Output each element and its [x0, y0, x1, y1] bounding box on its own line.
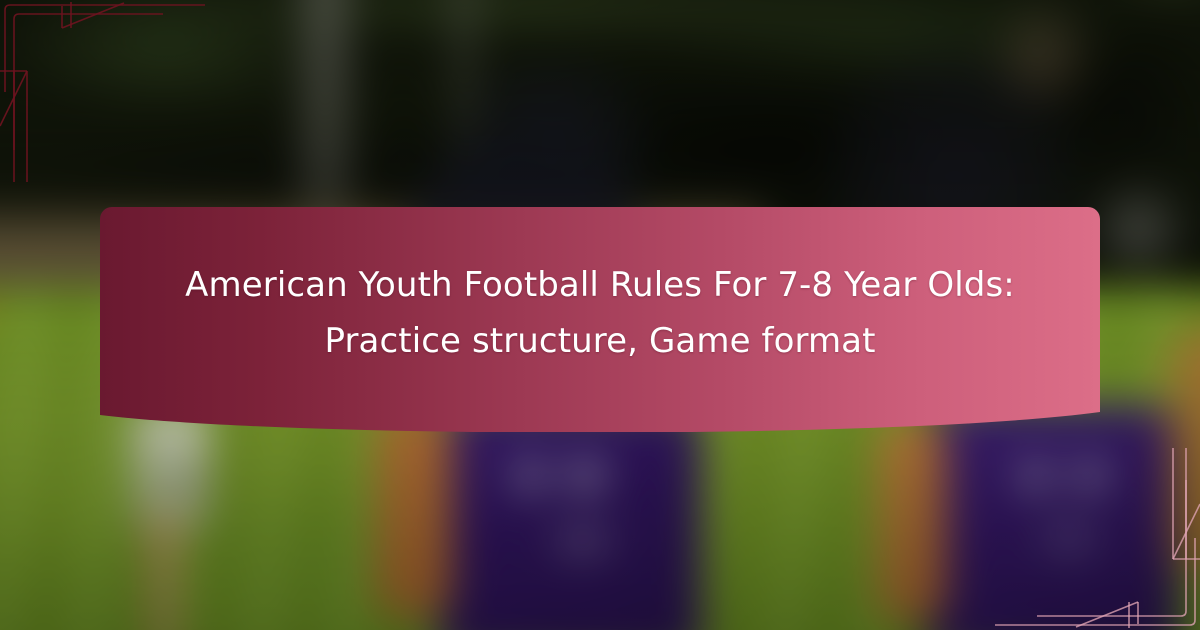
- share-card-canvas: American Youth Football Rules For 7-8 Ye…: [0, 0, 1200, 630]
- page-title: American Youth Football Rules For 7-8 Ye…: [100, 207, 1100, 432]
- title-card: American Youth Football Rules For 7-8 Ye…: [100, 207, 1100, 432]
